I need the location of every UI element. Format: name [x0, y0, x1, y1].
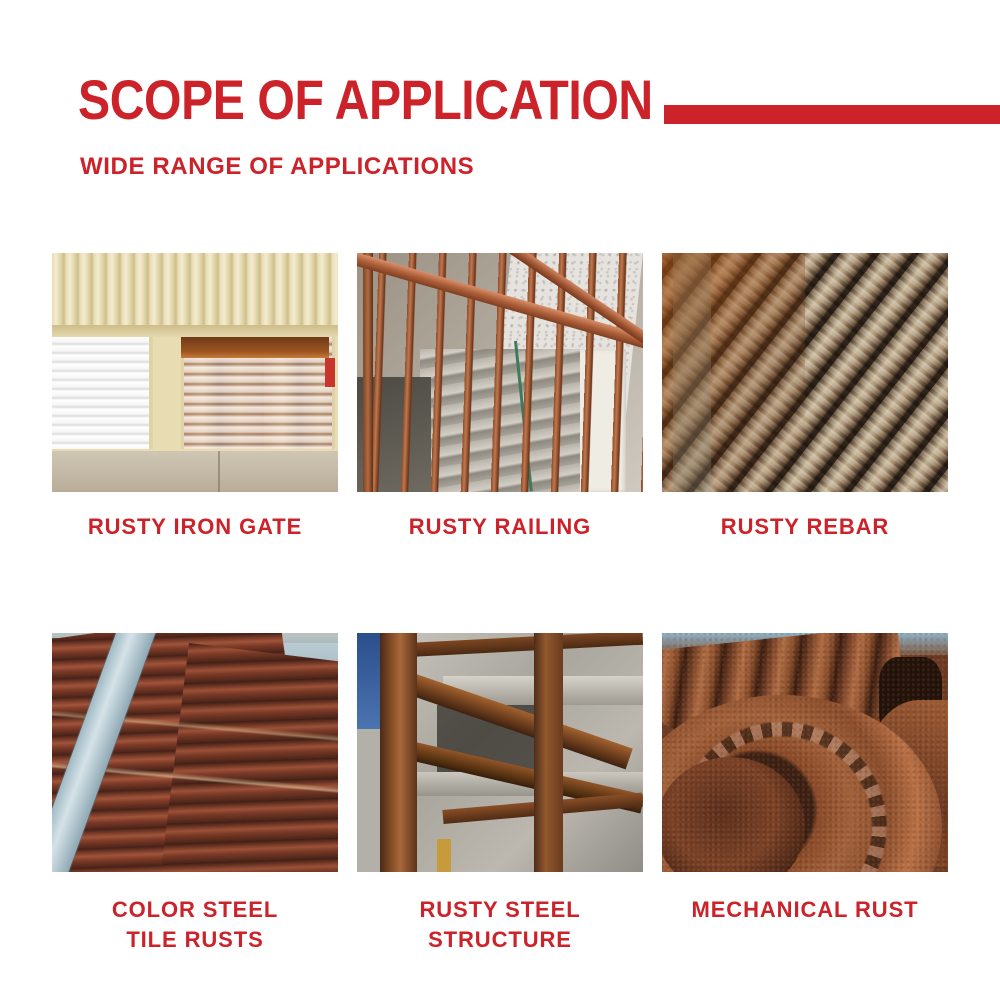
rusty-steel-structure-photo: [357, 633, 643, 872]
rusty-railing-photo: [357, 253, 643, 492]
rusty-rebar-photo: [662, 253, 948, 492]
gallery-item-caption: MECHANICAL RUST: [692, 895, 919, 925]
gallery-item-mechanical-rust[interactable]: MECHANICAL RUST: [662, 633, 948, 955]
gallery-row: COLOR STEEL TILE RUSTS RUSTY STEEL STRUC…: [52, 633, 948, 955]
page-title: SCOPE OF APPLICATION: [78, 74, 653, 126]
gallery-item-rusty-railing[interactable]: RUSTY RAILING: [357, 253, 643, 542]
page-subtitle: WIDE RANGE OF APPLICATIONS: [80, 153, 474, 181]
gallery-item-rusty-steel-structure[interactable]: RUSTY STEEL STRUCTURE: [357, 633, 643, 955]
gallery-item-rusty-rebar[interactable]: RUSTY REBAR: [662, 253, 948, 542]
rusty-iron-gate-photo: [52, 253, 338, 492]
gallery-item-caption: RUSTY REBAR: [721, 512, 889, 542]
gallery-item-caption: RUSTY RAILING: [409, 512, 591, 542]
gallery-item-caption: COLOR STEEL TILE RUSTS: [112, 895, 278, 955]
title-underline-bar: [664, 105, 1000, 124]
page-header: SCOPE OF APPLICATION WIDE RANGE OF APPLI…: [0, 0, 1000, 200]
color-steel-tile-rust-photo: [52, 633, 338, 872]
application-gallery: RUSTY IRON GATE RUSTY RAILING: [52, 253, 948, 955]
mechanical-rust-photo: [662, 633, 948, 872]
gallery-item-rusty-iron-gate[interactable]: RUSTY IRON GATE: [52, 253, 338, 542]
gallery-item-caption: RUSTY IRON GATE: [88, 512, 302, 542]
gallery-item-color-steel-tile-rusts[interactable]: COLOR STEEL TILE RUSTS: [52, 633, 338, 955]
gallery-row: RUSTY IRON GATE RUSTY RAILING: [52, 253, 948, 542]
gallery-item-caption: RUSTY STEEL STRUCTURE: [419, 895, 580, 955]
